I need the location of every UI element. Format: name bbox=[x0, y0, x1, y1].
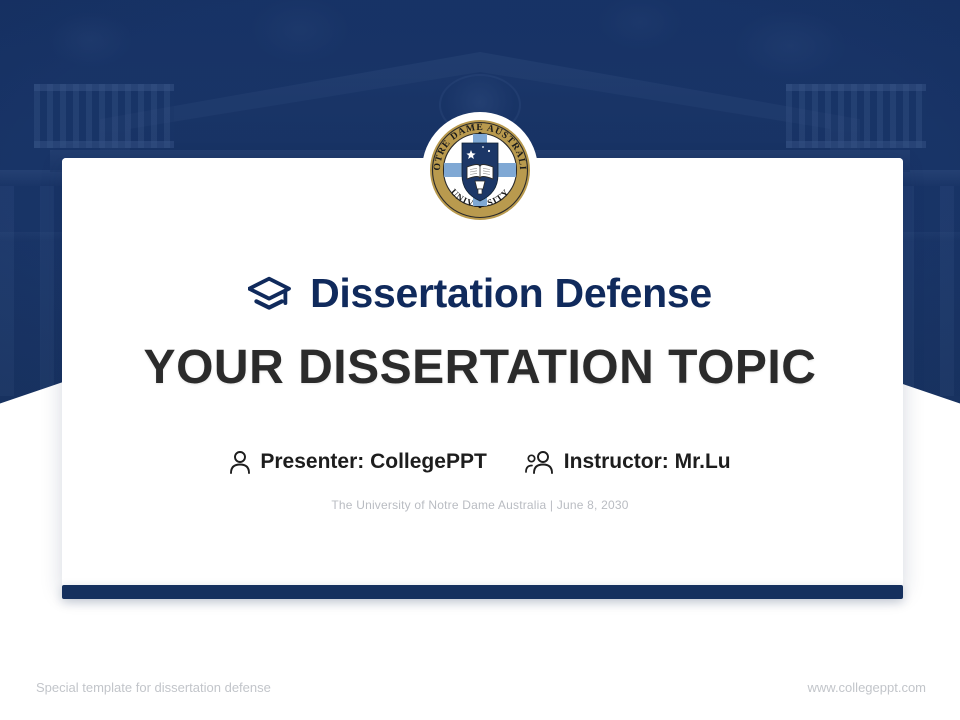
presenter-item: Presenter: CollegePPT bbox=[229, 450, 486, 474]
people-group-icon bbox=[525, 450, 555, 474]
card-accent-bar bbox=[62, 585, 903, 599]
institution-date-line: The University of Notre Dame Australia |… bbox=[0, 498, 960, 512]
graduation-cap-icon bbox=[248, 276, 292, 314]
people-row: Presenter: CollegePPT Instructor: Mr.Lu bbox=[0, 450, 960, 474]
instructor-item: Instructor: Mr.Lu bbox=[525, 450, 731, 474]
eyebrow-row: Dissertation Defense bbox=[0, 272, 960, 314]
university-seal: NOTRE DAME AUSTRALIA UNIVERSITY bbox=[427, 117, 533, 223]
person-icon bbox=[229, 450, 251, 474]
presenter-label: Presenter: CollegePPT bbox=[260, 450, 486, 474]
eyebrow-title: Dissertation Defense bbox=[310, 273, 712, 314]
page-title: YOUR DISSERTATION TOPIC bbox=[0, 340, 960, 395]
footer-left-text: Special template for dissertation defens… bbox=[36, 680, 271, 695]
instructor-label: Instructor: Mr.Lu bbox=[564, 450, 731, 474]
title-slide: NOTRE DAME AUSTRALIA UNIVERSITY bbox=[0, 0, 960, 720]
footer-right-url: www.collegeppt.com bbox=[808, 680, 927, 695]
